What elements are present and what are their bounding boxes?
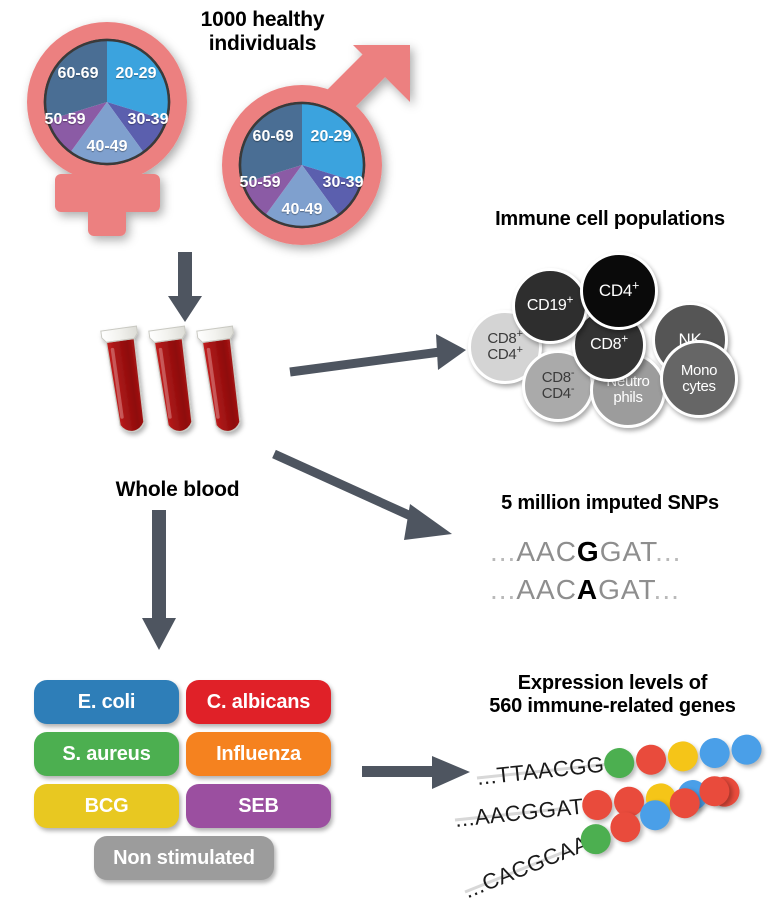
- stimulation-panel: E. coli C. albicans S. aureus Influenza …: [34, 680, 334, 895]
- immune-cells-cluster: CD8+ CD4+ NK CD8- CD4- Neutro phils Mono…: [460, 240, 760, 420]
- male-gender-symbol: [205, 38, 420, 253]
- immune-cell-monocytes[interactable]: Mono cytes: [660, 340, 738, 418]
- immune-cell-cd4pos[interactable]: CD4+: [580, 252, 658, 330]
- snp-left-bases: AAC: [516, 574, 577, 605]
- strand-sequence: ...AACGGAT: [454, 794, 585, 833]
- female-gender-symbol: [10, 14, 210, 239]
- snp-variant-allele: G: [577, 536, 600, 567]
- expression-title-line1: Expression levels of: [455, 672, 770, 695]
- strand-bead: [635, 743, 668, 776]
- snp-suffix: ...: [654, 574, 680, 605]
- snp-sequences: ...AACGGAT... ...AACAGAT...: [480, 530, 760, 618]
- snps-title: 5 million imputed SNPs: [460, 492, 760, 515]
- strand-sequence: ...TTAACGG: [476, 752, 606, 791]
- strand-bead: [730, 733, 763, 766]
- expression-strands: ...TTAACGG ...AACGGAT ...CACGCAA: [455, 735, 771, 910]
- stimulation-box-bcg[interactable]: BCG: [34, 784, 179, 828]
- immune-cell-label: Mono: [681, 363, 717, 379]
- stimulation-box-influenza[interactable]: Influenza: [186, 732, 331, 776]
- immune-cell-label-2: phils: [613, 390, 642, 406]
- stimulation-box-s-aureus[interactable]: S. aureus: [34, 732, 179, 776]
- expression-title-line2: 560 immune-related genes: [455, 695, 770, 718]
- male-cohort-symbol: 20-29 30-39 40-49 50-59 60-69: [205, 38, 420, 253]
- immune-cell-label-2: cytes: [682, 379, 716, 395]
- snp-suffix: ...: [655, 536, 681, 567]
- stimulation-box-non-stimulated[interactable]: Non stimulated: [94, 836, 274, 880]
- snp-left-bases: AAC: [516, 536, 577, 567]
- arrow-cohort-to-blood: [160, 252, 210, 324]
- arrow-blood-to-stimulations: [130, 510, 190, 652]
- female-cohort-symbol: 20-29 30-39 40-49 50-59 60-69: [10, 14, 210, 239]
- stimulation-box-e-coli[interactable]: E. coli: [34, 680, 179, 724]
- blood-tubes: [105, 328, 255, 468]
- immune-cell-cd19pos[interactable]: CD19+: [512, 268, 588, 344]
- strand-bead: [698, 737, 731, 770]
- arrow-blood-to-snps: [272, 448, 462, 548]
- strand-bead: [666, 740, 699, 773]
- snp-prefix: ...: [490, 536, 516, 567]
- stimulation-box-seb[interactable]: SEB: [186, 784, 331, 828]
- strand-bead: [603, 747, 636, 780]
- whole-blood-label: Whole blood: [85, 478, 270, 502]
- expression-title: Expression levels of 560 immune-related …: [455, 672, 770, 718]
- immune-cell-label: CD8-: [542, 370, 575, 386]
- figure-canvas: 1000 healthy individuals: [0, 0, 771, 922]
- snp-variant-allele: A: [577, 574, 598, 605]
- arrow-blood-to-immune-cells: [288, 330, 468, 390]
- immune-cell-label: CD4+: [599, 282, 639, 300]
- immune-cell-label: CD8+: [590, 337, 628, 354]
- strand-sequence: ...CACGCAA: [460, 830, 592, 904]
- snp-prefix: ...: [490, 574, 516, 605]
- immune-cell-label: CD19+: [527, 298, 573, 315]
- immune-cell-label-2: CD4+: [487, 347, 522, 363]
- snp-right-bases: GAT: [600, 536, 655, 567]
- immune-cell-label-2: CD4-: [542, 386, 575, 402]
- snp-sequence-row-1: ...AACGGAT...: [490, 536, 681, 568]
- stimulation-box-c-albicans[interactable]: C. albicans: [186, 680, 331, 724]
- snp-right-bases: GAT: [598, 574, 653, 605]
- snp-sequence-row-2: ...AACAGAT...: [490, 574, 680, 606]
- immune-cells-title: Immune cell populations: [455, 208, 765, 231]
